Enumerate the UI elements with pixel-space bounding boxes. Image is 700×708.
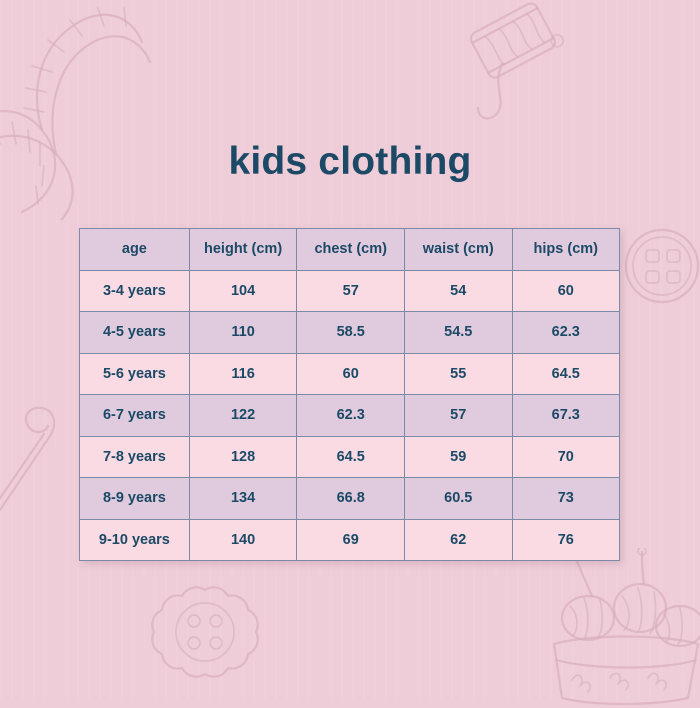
cell-waist: 62 [404, 519, 512, 561]
table-row: 5-6 years 116 60 55 64.5 [80, 353, 620, 395]
column-header-waist: waist (cm) [404, 229, 512, 271]
cell-age: 7-8 years [80, 436, 190, 478]
cell-waist: 59 [404, 436, 512, 478]
cell-hips: 67.3 [512, 395, 619, 437]
cell-hips: 62.3 [512, 312, 619, 354]
cell-height: 140 [189, 519, 297, 561]
cell-age: 4-5 years [80, 312, 190, 354]
cell-height: 134 [189, 478, 297, 520]
cell-hips: 73 [512, 478, 619, 520]
cell-age: 8-9 years [80, 478, 190, 520]
table-row: 9-10 years 140 69 62 76 [80, 519, 620, 561]
cell-age: 5-6 years [80, 353, 190, 395]
cell-height: 104 [189, 270, 297, 312]
page-title: kids clothing [0, 140, 700, 184]
column-header-height: height (cm) [189, 229, 297, 271]
cell-chest: 66.8 [297, 478, 405, 520]
table-header-row: age height (cm) chest (cm) waist (cm) hi… [80, 229, 620, 271]
table-row: 4-5 years 110 58.5 54.5 62.3 [80, 312, 620, 354]
cell-height: 116 [189, 353, 297, 395]
column-header-chest: chest (cm) [297, 229, 405, 271]
cell-hips: 60 [512, 270, 619, 312]
cell-height: 122 [189, 395, 297, 437]
cell-waist: 54 [404, 270, 512, 312]
cell-chest: 58.5 [297, 312, 405, 354]
cell-hips: 64.5 [512, 353, 619, 395]
table-row: 3-4 years 104 57 54 60 [80, 270, 620, 312]
cell-height: 110 [189, 312, 297, 354]
cell-chest: 69 [297, 519, 405, 561]
table-row: 6-7 years 122 62.3 57 67.3 [80, 395, 620, 437]
cell-height: 128 [189, 436, 297, 478]
cell-waist: 54.5 [404, 312, 512, 354]
measuring-tape-icon [0, 0, 200, 220]
column-header-age: age [80, 229, 190, 271]
scalloped-button-icon [140, 578, 270, 693]
table-row: 8-9 years 134 66.8 60.5 73 [80, 478, 620, 520]
cell-chest: 62.3 [297, 395, 405, 437]
cell-chest: 64.5 [297, 436, 405, 478]
cell-waist: 60.5 [404, 478, 512, 520]
cell-waist: 57 [404, 395, 512, 437]
size-chart-table: age height (cm) chest (cm) waist (cm) hi… [79, 228, 620, 561]
yarn-basket-icon [548, 548, 700, 708]
cell-waist: 55 [404, 353, 512, 395]
cell-age: 9-10 years [80, 519, 190, 561]
table-row: 7-8 years 128 64.5 59 70 [80, 436, 620, 478]
cell-hips: 70 [512, 436, 619, 478]
cell-chest: 57 [297, 270, 405, 312]
thread-spool-icon [458, 0, 598, 134]
cell-hips: 76 [512, 519, 619, 561]
column-header-hips: hips (cm) [512, 229, 619, 271]
cell-chest: 60 [297, 353, 405, 395]
cell-age: 3-4 years [80, 270, 190, 312]
button-four-hole-icon [622, 216, 700, 316]
cell-age: 6-7 years [80, 395, 190, 437]
